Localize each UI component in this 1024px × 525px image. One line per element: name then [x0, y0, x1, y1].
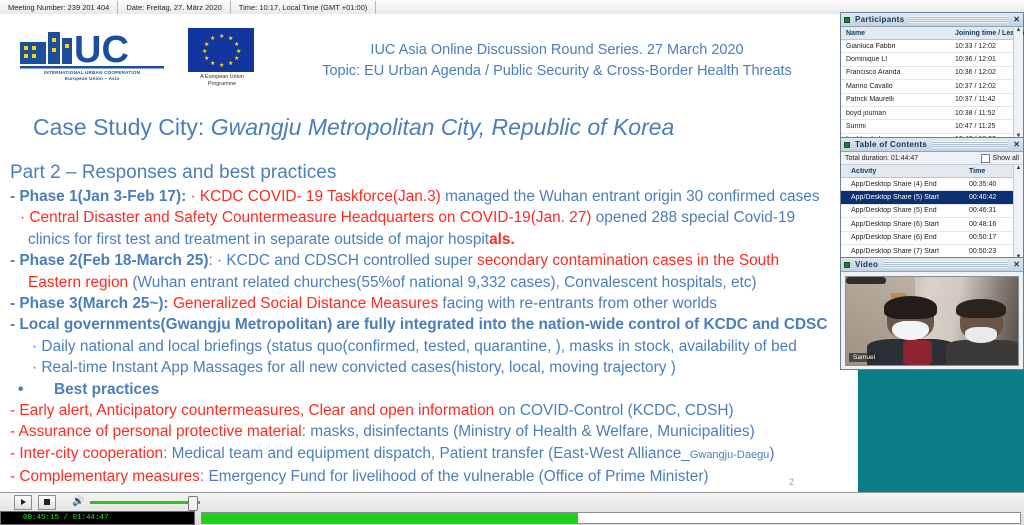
video-panel: Video ✕ Samuel: [840, 257, 1024, 370]
iuc-logo: UC INTERNATIONAL URBAN COOPERATION Europ…: [18, 26, 168, 86]
close-icon[interactable]: ✕: [1013, 140, 1020, 149]
toc-time: 00:40:42: [969, 194, 1013, 201]
stop-button[interactable]: [38, 495, 56, 510]
table-row[interactable]: App/Desktop Share (5) End00:46:31: [841, 205, 1013, 218]
toc-activity: App/Desktop Share (5) Start: [841, 194, 969, 201]
case-study-label: Case Study City:: [33, 114, 211, 140]
phase2-label: - Phase 2(Feb 18-March 25): [10, 252, 208, 269]
phase1c-line: clinics for first test and treatment in …: [10, 229, 858, 250]
bp-intercity-line: - Inter-city cooperation: Medical team a…: [10, 443, 858, 466]
table-row[interactable]: Sunmi10:47 / 11:25: [841, 120, 1013, 133]
slide-body: Part 2 – Responses and best practices - …: [10, 160, 858, 488]
phase1b-line: · Central Disaster and Safety Countermea…: [10, 207, 858, 228]
best-practices-label: Best practices: [54, 381, 159, 398]
series-title: IUC Asia Online Discussion Round Series.…: [262, 40, 852, 60]
phase3-red: Generalized Social Distance Measures: [173, 295, 438, 312]
participant-time: 10:33 / 12:02: [955, 43, 1013, 50]
bp1-red: - Early alert, Anticipatory countermeasu…: [10, 402, 494, 419]
toc-panel-header[interactable]: Table of Contents ✕: [841, 138, 1023, 152]
phase1b-blue: opened 288 special Covid-19: [591, 209, 795, 226]
video-panel-title: Video: [855, 260, 878, 269]
toc-activity: App/Desktop Share (7) Start: [841, 248, 969, 255]
participants-grid: Name Joining time / Leaving time Gianluc…: [841, 27, 1023, 154]
participant-time: 10:47 / 11:25: [955, 123, 1013, 130]
toc-activity: App/Desktop Share (5) End: [841, 207, 969, 214]
participants-scrollbar[interactable]: ▲ ▼: [1013, 27, 1023, 139]
participant-time: 10:38 / 11:52: [955, 110, 1013, 117]
show-all-label: Show all: [993, 155, 1019, 162]
volume-slider[interactable]: [90, 501, 200, 504]
show-all-checkbox[interactable]: Show all: [981, 154, 1019, 163]
topic-text: EU Urban Agenda / Public Security & Cros…: [364, 63, 792, 79]
case-study-title: Case Study City: Gwangju Metropolitan Ci…: [33, 114, 833, 141]
table-row[interactable]: Patrick Maurelli10:37 / 11:42: [841, 94, 1013, 107]
participant-name: Dominique LI: [841, 56, 955, 63]
table-row[interactable]: App/Desktop Share (6) End00:50:17: [841, 232, 1013, 245]
topic-line: Topic: EU Urban Agenda / Public Security…: [262, 60, 852, 82]
close-icon[interactable]: ✕: [1013, 15, 1020, 24]
toc-time: 00:48:16: [969, 221, 1013, 228]
phase2-grey: super: [434, 252, 477, 269]
person-two-face-mask: [965, 327, 998, 343]
toc-activity: App/Desktop Share (4) End: [841, 181, 969, 188]
participant-name: Marino Cavallo: [841, 83, 955, 90]
total-duration: Total duration: 01:44:47: [845, 155, 918, 162]
checkbox-icon[interactable]: [981, 154, 990, 163]
video-stage[interactable]: Samuel: [845, 276, 1019, 366]
bullet-icon: •: [18, 379, 54, 400]
toc-time: 00:35:40: [969, 181, 1013, 188]
best-practices-heading: •Best practices: [10, 379, 858, 400]
participant-name: Gianluca Fabbri: [841, 43, 955, 50]
bp4-red: - Complementary measures: [10, 468, 200, 485]
participant-name: Francisco Aranda: [841, 69, 955, 76]
bp3-close: ): [769, 445, 774, 462]
participants-panel-header[interactable]: Participants ✕: [841, 13, 1023, 27]
playback-bar: 🔊 00:45:15 / 01:44:47: [0, 492, 1024, 525]
participant-time: 10:37 / 11:42: [955, 96, 1013, 103]
bp3-small: Gwangju-Daegu: [690, 449, 770, 461]
table-row[interactable]: App/Desktop Share (5) Start00:40:42: [841, 191, 1013, 204]
panel-drag-handle[interactable]: [909, 16, 1008, 23]
part-title: Part 2 – Responses and best practices: [10, 160, 858, 186]
timeline-row: 00:45:15 / 01:44:47: [0, 511, 1024, 525]
meeting-time: Time: 10:17, Local Time (GMT +01:00): [231, 1, 377, 14]
meeting-date: Date: Freitag, 27. März 2020: [118, 1, 230, 14]
phase3-blue: facing with re-entrants from other world…: [438, 295, 717, 312]
playback-progress-fill: [202, 513, 578, 523]
table-row[interactable]: App/Desktop Share (4) End00:35:40: [841, 178, 1013, 191]
toc-time: 00:50:23: [969, 248, 1013, 255]
col-time: Time: [969, 168, 1013, 175]
participants-panel-title: Participants: [855, 15, 904, 24]
phase1-line: - Phase 1(Jan 3-Feb 17): · KCDC COVID- 1…: [10, 186, 858, 207]
col-joining-leaving: Joining time / Leaving time: [955, 30, 1013, 37]
phase1-red: · KCDC COVID- 19 Taskforce(Jan.3): [190, 188, 440, 205]
toc-activity: App/Desktop Share (6) End: [841, 234, 969, 241]
scroll-up-icon[interactable]: ▲: [1016, 165, 1022, 171]
volume-slider-handle[interactable]: [188, 496, 198, 511]
panel-status-icon: [844, 142, 850, 148]
participant-time: 10:36 / 12:02: [955, 69, 1013, 76]
person-one-hair: [884, 296, 937, 319]
toc-activity: App/Desktop Share (6) Start: [841, 221, 969, 228]
realtime-app-line: · Real-time Instant App Massages for all…: [10, 357, 858, 378]
docked-panels: Participants ✕ Name Joining time / Leavi…: [840, 6, 1024, 378]
shared-slide-view: UC INTERNATIONAL URBAN COOPERATION Europ…: [0, 14, 858, 492]
table-row[interactable]: Gianluca Fabbri10:33 / 12:02: [841, 40, 1013, 53]
phase1b-red: · Central Disaster and Safety Countermea…: [20, 209, 591, 226]
bp-complementary-line: - Complementary measures: Emergency Fund…: [10, 466, 858, 487]
participants-panel: Participants ✕ Name Joining time / Leavi…: [840, 12, 1024, 138]
playback-time-display: 00:45:15 / 01:44:47: [0, 511, 195, 525]
panel-drag-handle[interactable]: [932, 141, 1008, 148]
eu-caption-line2: Programme: [188, 81, 256, 87]
participant-time: 10:37 / 12:02: [955, 83, 1013, 90]
toc-time: 00:46:31: [969, 207, 1013, 214]
table-row[interactable]: boyd jouman10:38 / 11:52: [841, 107, 1013, 120]
toc-panel-title: Table of Contents: [855, 140, 927, 149]
table-row[interactable]: Marino Cavallo10:37 / 12:02: [841, 80, 1013, 93]
phase3-label: - Phase 3(March 25~):: [10, 295, 173, 312]
bp-ppe-line: - Assurance of personal protective mater…: [10, 421, 858, 442]
table-row[interactable]: Dominique LI10:36 / 12:01: [841, 53, 1013, 66]
phase2-line: - Phase 2(Feb 18-March 25): · KCDC and C…: [10, 250, 858, 271]
participant-name: Patrick Maurelli: [841, 96, 955, 103]
toc-time: 00:50:17: [969, 234, 1013, 241]
bp4-blue: : Emergency Fund for livelihood of the v…: [200, 468, 709, 485]
bp3-blue: : Medical team and equipment dispatch, P…: [163, 445, 690, 462]
topic-prefix: Topic:: [322, 63, 364, 79]
eu-flag-logo: ★ ★ ★ ★ ★ ★ ★ ★ ★ ★ ★ ★ A European Union…: [188, 28, 260, 90]
toc-subbar: Total duration: 01:44:47 Show all: [841, 152, 1023, 165]
person-two-glasses: [846, 277, 886, 284]
bp1-blue: on COVID-Control (KCDC, CDSH): [494, 402, 733, 419]
playback-controls: 🔊: [0, 493, 1024, 511]
participant-time: 10:36 / 12:01: [955, 56, 1013, 63]
play-button[interactable]: [14, 495, 32, 510]
phase2b-red: Eastern region: [28, 274, 132, 291]
local-governments-line: - Local governments(Gwangju Metropolitan…: [10, 314, 858, 335]
slide-page-number: 2: [789, 477, 794, 487]
person-one-scarf: [903, 340, 932, 365]
person-two-body: [946, 340, 1019, 366]
phase1c-bold: als.: [489, 231, 515, 248]
video-speaker-name: Samuel: [849, 353, 879, 362]
stop-icon: [44, 499, 50, 505]
speaker-icon[interactable]: 🔊: [72, 497, 84, 507]
table-row[interactable]: App/Desktop Share (6) Start00:48:16: [841, 218, 1013, 231]
table-of-contents-panel: Table of Contents ✕ Total duration: 01:4…: [840, 137, 1024, 258]
phase1-label: - Phase 1(Jan 3-Feb 17):: [10, 188, 190, 205]
phase2-blue1: : · KCDC and CDSCH controlled: [208, 252, 434, 269]
phase1c-blue: clinics for first test and treatment in …: [28, 231, 489, 248]
video-panel-header[interactable]: Video ✕: [841, 258, 1023, 272]
panel-drag-handle[interactable]: [883, 261, 1008, 268]
panel-status-icon: [844, 262, 850, 268]
eu-caption-line1: A European Union: [188, 74, 256, 80]
iuc-caption-line1: INTERNATIONAL URBAN COOPERATION: [18, 70, 166, 75]
person-two-hair: [956, 299, 1006, 318]
eu-flag-icon: ★ ★ ★ ★ ★ ★ ★ ★ ★ ★ ★ ★: [188, 28, 254, 72]
phase2b-blue: (Wuhan entrant related churches(55%of na…: [132, 274, 756, 291]
col-name: Name: [841, 30, 955, 37]
bp2-blue: : masks, disinfectants (Ministry of Heal…: [302, 423, 755, 440]
playback-progress-track[interactable]: [201, 512, 1021, 524]
iuc-logo-mark: UC: [18, 26, 166, 70]
toc-scrollbar[interactable]: ▲ ▼: [1013, 165, 1023, 260]
table-row[interactable]: Francisco Aranda10:36 / 12:02: [841, 67, 1013, 80]
meeting-number: Meeting Number: 239 201 404: [0, 1, 118, 14]
phase2-red: secondary contamination cases in the Sou…: [477, 252, 779, 269]
bp-early-alert-line: - Early alert, Anticipatory countermeasu…: [10, 400, 858, 421]
case-study-city: Gwangju Metropolitan City, Republic of K…: [211, 114, 675, 140]
teal-accent-block: [858, 368, 1024, 492]
iuc-caption-line2: European Union – Asia: [18, 76, 166, 81]
play-icon: [21, 499, 26, 505]
scroll-up-icon[interactable]: ▲: [1016, 27, 1022, 33]
col-activity: Activity: [841, 168, 969, 175]
daily-briefings-line: · Daily national and local briefings (st…: [10, 336, 858, 357]
slide-header: IUC Asia Online Discussion Round Series.…: [262, 40, 852, 82]
toc-column-headers: Activity Time: [841, 165, 1013, 178]
participant-name: Sunmi: [841, 123, 955, 130]
panel-status-icon: [844, 17, 850, 23]
bp2-red: - Assurance of personal protective mater…: [10, 423, 302, 440]
participant-name: boyd jouman: [841, 110, 955, 117]
svg-text:UC: UC: [74, 29, 129, 70]
phase1-blue: managed the Wuhan entrant origin 30 conf…: [441, 188, 820, 205]
phase2b-line: Eastern region (Wuhan entrant related ch…: [10, 272, 858, 293]
bp3-red: - Inter-city cooperation: [10, 445, 163, 462]
participants-column-headers: Name Joining time / Leaving time: [841, 27, 1013, 40]
close-icon[interactable]: ✕: [1013, 260, 1020, 269]
phase3-line: - Phase 3(March 25~): Generalized Social…: [10, 293, 858, 314]
